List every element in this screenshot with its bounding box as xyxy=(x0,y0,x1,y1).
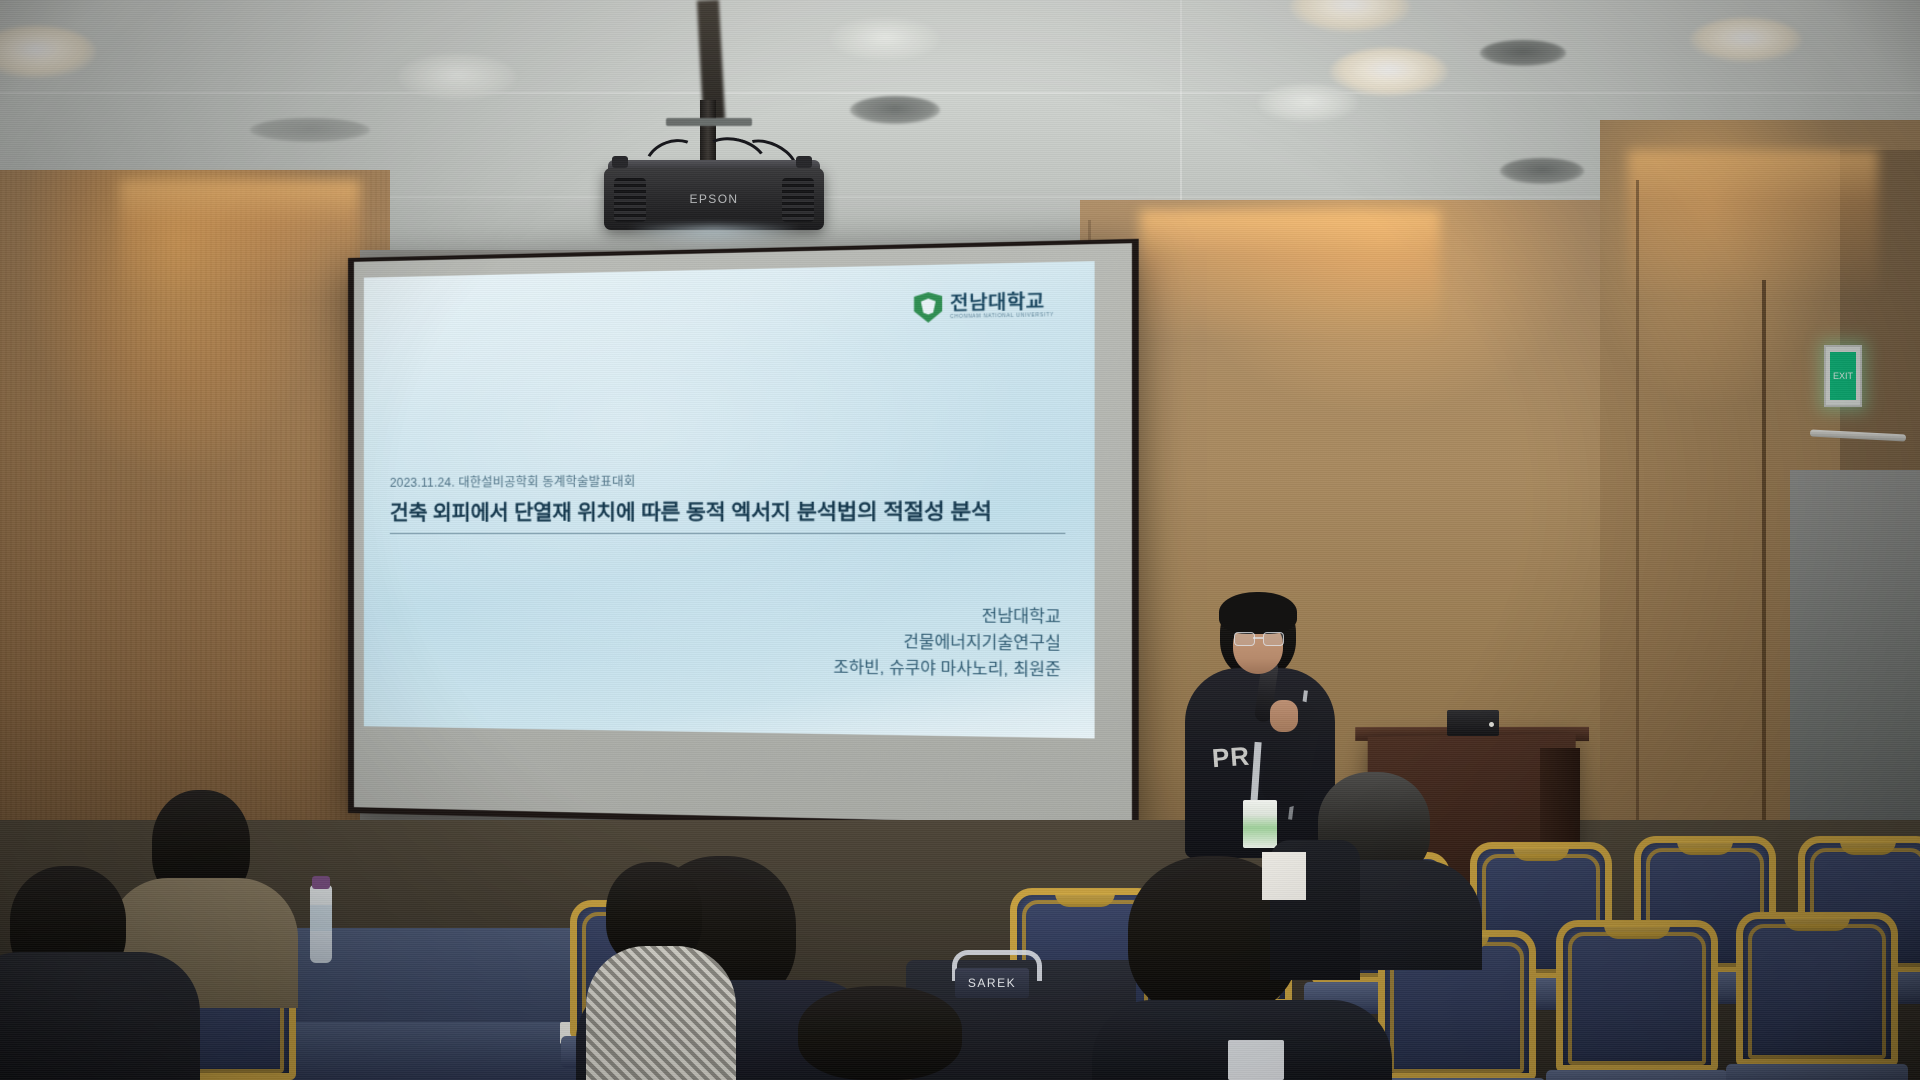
screen-surface: 전남대학교 CHONNAM NATIONAL UNIVERSITY 2023.1… xyxy=(354,243,1132,825)
projector-lens-glow xyxy=(630,226,798,248)
audience-shoulders xyxy=(0,952,200,1080)
name-badge xyxy=(1243,800,1277,848)
ceiling-downlight xyxy=(1690,18,1802,62)
chair[interactable] xyxy=(1556,920,1718,1072)
podium-floor-plate xyxy=(1262,852,1306,900)
ceiling-downlight xyxy=(398,54,516,100)
ceiling-vent xyxy=(250,118,370,142)
cove-light-right xyxy=(1628,150,1878,300)
chair[interactable] xyxy=(1736,912,1898,1066)
logo-english-name: CHONNAM NATIONAL UNIVERSITY xyxy=(950,313,1054,320)
water-bottle-label xyxy=(310,905,332,931)
exit-sign: EXIT xyxy=(1824,345,1862,407)
glasses-icon xyxy=(1234,632,1282,644)
ceiling-downlight xyxy=(1258,84,1358,122)
ceiling-downlight xyxy=(830,18,940,60)
slide-event-line: 2023.11.24. 대한설비공학회 동계학술발표대회 xyxy=(390,470,1066,491)
projector-mount-plate xyxy=(666,118,752,126)
slide-author-block: 전남대학교 건물에너지기술연구실 조하빈, 슈쿠야 마사노리, 최원준 xyxy=(833,603,1061,684)
slide-affiliation-lab: 건물에너지기술연구실 xyxy=(833,629,1061,657)
university-logo: 전남대학교 CHONNAM NATIONAL UNIVERSITY xyxy=(914,290,1054,323)
presenter-hoodie-text: PR xyxy=(1211,741,1251,775)
slide-title-block: 2023.11.24. 대한설비공학회 동계학술발표대회 건축 외피에서 단열재… xyxy=(390,470,1066,534)
slide-title: 건축 외피에서 단열재 위치에 따른 동적 엑서지 분석법의 적절성 분석 xyxy=(390,494,1066,526)
ceiling-vent xyxy=(850,96,940,124)
projector-foot xyxy=(612,156,628,168)
collar-shirt xyxy=(1228,1040,1284,1080)
door-frame xyxy=(1762,280,1766,840)
slide-authors-names: 조하빈, 슈쿠야 마사노리, 최원준 xyxy=(833,655,1061,684)
conference-room-photo: EXIT EPSON 전남대학교 CHONNAM NATIONAL UNIVER… xyxy=(0,0,1920,1080)
cove-light-back xyxy=(1140,210,1440,340)
conference-bag-tag: SAREK xyxy=(955,968,1029,998)
exit-sign-label: EXIT xyxy=(1830,352,1856,400)
slide-title-underline xyxy=(390,533,1066,534)
ceiling-vent xyxy=(1480,40,1566,66)
logo-korean-name: 전남대학교 xyxy=(950,292,1054,313)
audience-shoulders xyxy=(586,946,736,1080)
water-bottle-cap xyxy=(312,876,330,889)
slide-affiliation-university: 전남대학교 xyxy=(833,603,1061,631)
presentation-slide: 전남대학교 CHONNAM NATIONAL UNIVERSITY 2023.1… xyxy=(364,261,1095,738)
shield-icon xyxy=(914,292,942,323)
projection-screen: 전남대학교 CHONNAM NATIONAL UNIVERSITY 2023.1… xyxy=(348,239,1139,832)
ceiling-vent xyxy=(1500,158,1584,184)
ceiling-downlight xyxy=(1330,48,1448,96)
cove-light-left xyxy=(120,180,360,300)
wall-seam xyxy=(1636,180,1639,880)
presenter-hand xyxy=(1270,700,1298,732)
podium-device-indicator xyxy=(1489,722,1494,727)
audience-head xyxy=(798,986,962,1080)
projector-foot xyxy=(796,156,812,168)
projector-brand-label: EPSON xyxy=(604,192,824,206)
presenter-fringe xyxy=(1219,592,1297,634)
